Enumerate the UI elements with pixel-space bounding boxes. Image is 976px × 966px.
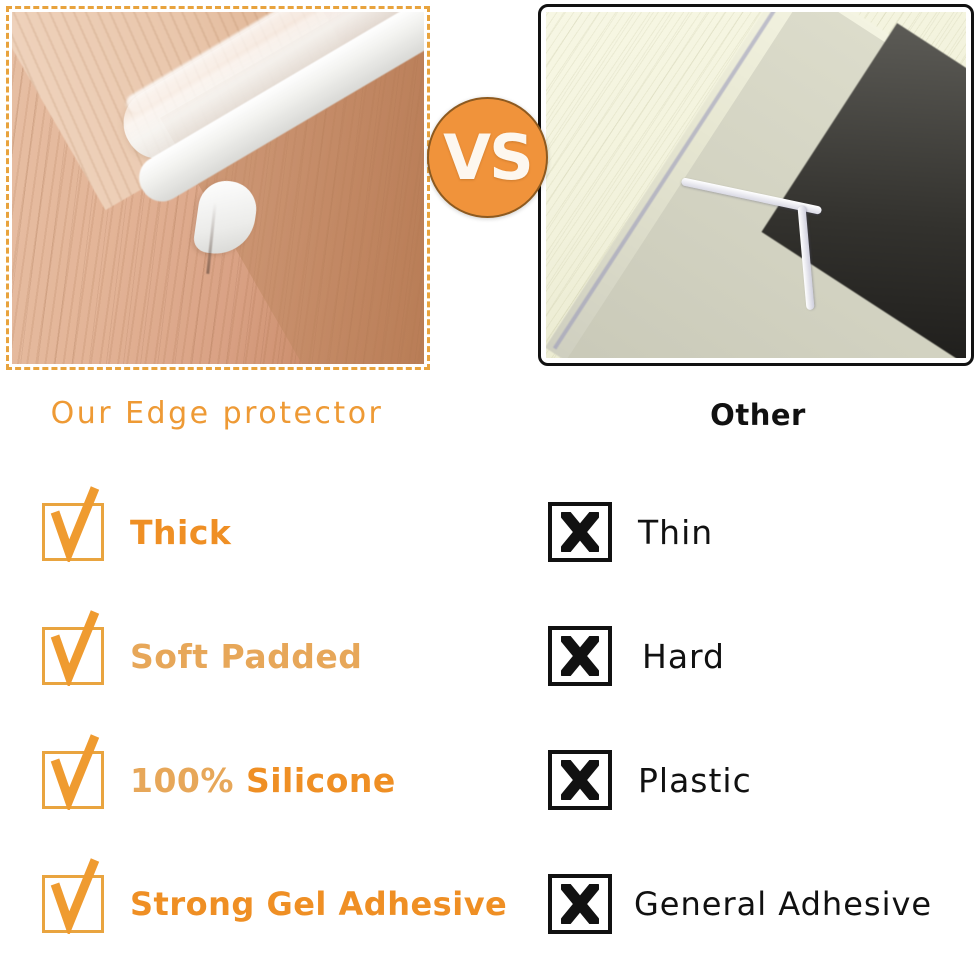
feature-label-ours: Strong Gel Adhesive xyxy=(130,888,507,920)
feature-label-other: Thin xyxy=(638,516,713,549)
check-mark-stroke xyxy=(49,610,101,686)
feature-label-ours: Soft Padded xyxy=(130,640,362,673)
feature-label-ours-main: Soft Padded xyxy=(130,637,362,676)
feature-row-our-side: 100% Silicone xyxy=(42,718,396,842)
feature-label-ours: Thick xyxy=(130,516,231,549)
check-icon xyxy=(42,875,104,933)
feature-label-other: Hard xyxy=(642,640,725,673)
feature-row-our-side: Soft Padded xyxy=(42,594,362,718)
check-mark-stroke xyxy=(49,486,101,562)
feature-label-ours-main: Strong Gel Adhesive xyxy=(130,885,507,923)
feature-row-other-side: Plastic xyxy=(548,718,752,842)
check-mark-stroke xyxy=(49,734,101,810)
cross-icon xyxy=(548,874,612,934)
cross-icon xyxy=(548,750,612,810)
other-product-photo xyxy=(546,12,966,358)
feature-label-ours-prefix: 100% xyxy=(130,761,246,800)
product-comparison-graphic: VS Our Edge protector Other xyxy=(0,0,976,927)
comparison-photo-row: VS xyxy=(0,0,976,375)
feature-row-other-side: General Adhesive xyxy=(548,842,932,966)
our-product-photo xyxy=(12,12,424,364)
feature-label-ours-main: Thick xyxy=(130,513,231,552)
feature-row-our-side: Thick xyxy=(42,470,231,594)
feature-label-ours: 100% Silicone xyxy=(130,764,396,797)
feature-label-other: Plastic xyxy=(638,764,752,797)
feature-row-our-side: Strong Gel Adhesive xyxy=(42,842,507,966)
check-icon xyxy=(42,503,104,561)
feature-label-other: General Adhesive xyxy=(634,888,932,920)
other-product-caption: Other xyxy=(540,398,976,432)
cross-icon xyxy=(548,626,612,686)
cross-icon xyxy=(548,502,612,562)
check-mark-stroke xyxy=(49,858,101,934)
feature-label-ours-main: Silicone xyxy=(246,761,396,800)
our-product-caption: Our Edge protector xyxy=(0,396,434,431)
other-product-photo-frame xyxy=(538,4,974,366)
feature-row: 100% Silicone Plastic xyxy=(0,718,976,842)
check-icon xyxy=(42,627,104,685)
versus-badge: VS xyxy=(427,97,548,218)
versus-badge-label: VS xyxy=(443,127,532,189)
feature-row-other-side: Hard xyxy=(548,594,725,718)
feature-comparison-list: Thick Thin xyxy=(0,470,976,966)
check-icon xyxy=(42,751,104,809)
feature-row: Soft Padded Hard xyxy=(0,594,976,718)
feature-row: Strong Gel Adhesive General Adhesive xyxy=(0,842,976,966)
our-product-photo-frame xyxy=(6,6,430,370)
feature-row-other-side: Thin xyxy=(548,470,713,594)
feature-row: Thick Thin xyxy=(0,470,976,594)
